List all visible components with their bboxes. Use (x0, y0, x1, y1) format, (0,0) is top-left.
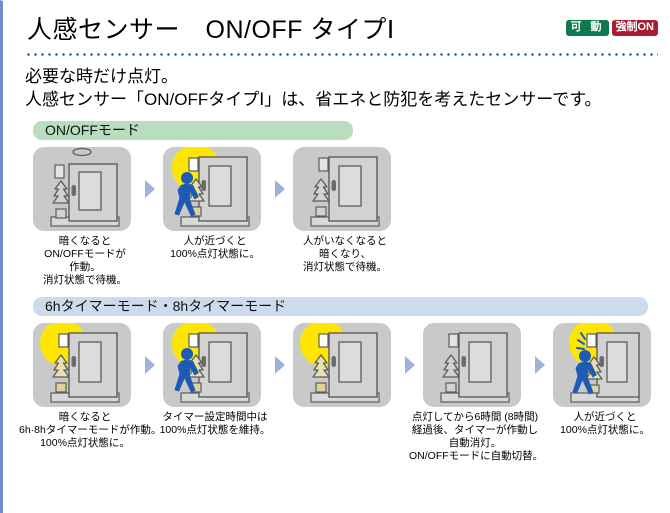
scene-lit-house (293, 323, 391, 407)
caption-line: 経過後、タイマーが作動し (409, 424, 541, 437)
section-timer-mode: 6hタイマーモード・8hタイマーモード (3, 287, 670, 463)
forced-on-badge: 強制ON (612, 20, 659, 36)
step-timer-1: 暗くなると 6h·8hタイマーモードが作動。 100%点灯状態に。 (33, 323, 137, 450)
house-illustration (293, 147, 391, 231)
lead-text: 必要な時だけ点灯。 人感センサー「ON/OFFタイプⅠ」は、省エネと防犯を考えた… (3, 56, 670, 111)
page-root: 人感センサー ON/OFF タイプⅠ 可 動 強制ON 必要な時だけ点灯。 人感… (0, 0, 670, 513)
step-list-onoff: 暗くなると ON/OFFモードが 作動。 消灯状態で待機。 (33, 147, 670, 287)
caption-timer-5: 人が近づくと 100%点灯状態に。 (553, 411, 657, 437)
caption-line: 暗くなり、 (293, 248, 397, 261)
caption-line: 100%点灯状態に。 (163, 248, 267, 261)
caption-line: 作動。 (26, 261, 144, 274)
caption-line: 自動消灯。 (409, 437, 541, 450)
scene-dark-house-plain (293, 147, 391, 231)
house-illustration (163, 323, 261, 407)
page-header: 人感センサー ON/OFF タイプⅠ 可 動 強制ON (3, 1, 670, 47)
arrow-icon (397, 323, 423, 407)
arrow-icon (137, 323, 163, 407)
caption-line: 消灯状態で待機。 (293, 261, 397, 274)
caption-timer-4: 点灯してから6時間 (8時間) 経過後、タイマーが作動し 自動消灯。 ON/OF… (409, 411, 541, 463)
step-onoff-3: 人がいなくなると 暗くなり、 消灯状態で待機。 (293, 147, 397, 274)
movable-badge: 可 動 (566, 20, 608, 36)
house-illustration (293, 323, 391, 407)
caption-line: 人がいなくなると (293, 235, 397, 248)
lead-line-1: 必要な時だけ点灯。 (25, 65, 670, 88)
step-timer-3 (293, 323, 397, 411)
scene-lit-house-with-person (163, 323, 261, 407)
caption-line: 暗くなると (26, 235, 144, 248)
caption-line: 消灯状態で待機。 (26, 274, 144, 287)
caption-line: 人が近づくと (553, 411, 657, 424)
scene-dark-house-plain (423, 323, 521, 407)
caption-line: 100%点灯状態に。 (19, 437, 151, 450)
caption-line: 6h·8hタイマーモードが作動。 (19, 424, 151, 437)
caption-line: ON/OFFモードが (26, 248, 144, 261)
scene-lit-house-with-person-blink (553, 323, 651, 407)
caption-onoff-3: 人がいなくなると 暗くなり、 消灯状態で待機。 (293, 235, 397, 274)
arrow-icon (267, 323, 293, 407)
caption-timer-2: タイマー設定時間中は 100%点灯状態を維持。 (149, 411, 281, 437)
section-heading-onoff: ON/OFFモード (33, 121, 353, 140)
scene-lit-house (33, 323, 131, 407)
caption-line: 点灯してから6時間 (8時間) (409, 411, 541, 424)
arrow-icon (267, 147, 293, 231)
caption-timer-1: 暗くなると 6h·8hタイマーモードが作動。 100%点灯状態に。 (19, 411, 151, 450)
house-illustration (163, 147, 261, 231)
caption-line: 100%点灯状態を維持。 (149, 424, 281, 437)
badge-group: 可 動 強制ON (566, 20, 658, 36)
step-onoff-2: 人が近づくと 100%点灯状態に。 (163, 147, 267, 261)
lead-line-2: 人感センサー「ON/OFFタイプⅠ」は、省エネと防犯を考えたセンサーです。 (25, 88, 670, 111)
caption-line: 暗くなると (19, 411, 151, 424)
step-timer-5: 人が近づくと 100%点灯状態に。 (553, 323, 657, 437)
house-illustration (423, 323, 521, 407)
caption-line: 100%点灯状態に。 (553, 424, 657, 437)
section-heading-timer: 6hタイマーモード・8hタイマーモード (33, 297, 648, 316)
caption-onoff-1: 暗くなると ON/OFFモードが 作動。 消灯状態で待機。 (26, 235, 144, 287)
step-onoff-1: 暗くなると ON/OFFモードが 作動。 消灯状態で待機。 (33, 147, 137, 287)
caption-onoff-2: 人が近づくと 100%点灯状態に。 (163, 235, 267, 261)
step-timer-4: 点灯してから6時間 (8時間) 経過後、タイマーが作動し 自動消灯。 ON/OF… (423, 323, 527, 463)
section-onoff-mode: ON/OFFモード (3, 111, 670, 287)
caption-line: 人が近づくと (163, 235, 267, 248)
caption-line: タイマー設定時間中は (149, 411, 281, 424)
house-illustration (33, 323, 131, 407)
house-illustration (553, 323, 651, 407)
scene-lit-house-with-person (163, 147, 261, 231)
scene-dark-house (33, 147, 131, 231)
step-timer-2: タイマー設定時間中は 100%点灯状態を維持。 (163, 323, 267, 437)
caption-line: ON/OFFモードに自動切替。 (409, 450, 541, 463)
step-list-timer: 暗くなると 6h·8hタイマーモードが作動。 100%点灯状態に。 (33, 323, 670, 463)
arrow-icon (527, 323, 553, 407)
arrow-icon (137, 147, 163, 231)
house-illustration (33, 147, 131, 231)
